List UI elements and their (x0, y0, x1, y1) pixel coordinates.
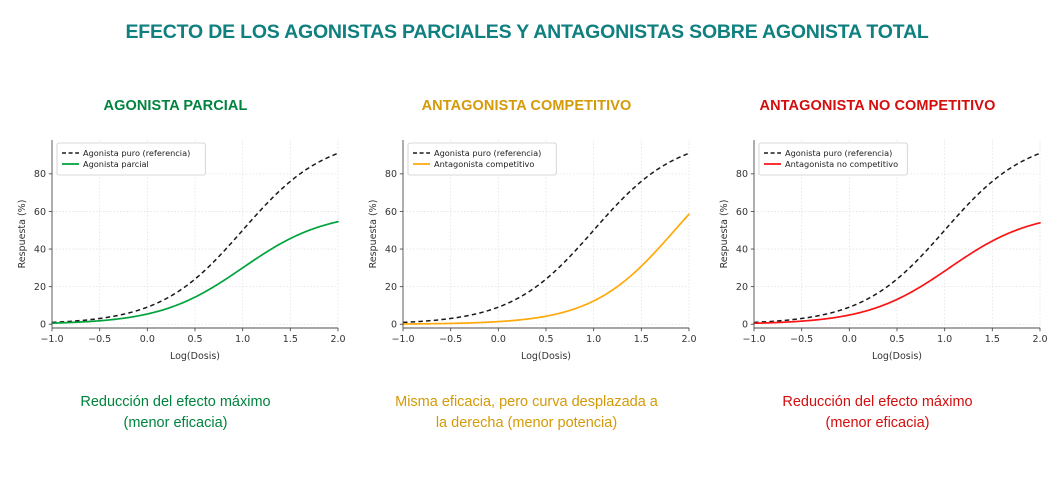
chart-agonista-parcial: −1.0−0.50.00.51.01.52.0020406080Log(Dosi… (6, 130, 346, 370)
y-tick-label: 60 (384, 207, 396, 218)
panel-caption-1: Misma eficacia, pero curva desplazada a … (367, 392, 687, 434)
y-axis-label: Respuesta (%) (368, 200, 379, 269)
legend: Agonista puro (referencia)Antagonista co… (408, 143, 556, 175)
x-axis-label: Log(Dosis) (169, 351, 219, 362)
y-tick-label: 80 (384, 169, 396, 180)
y-axis-label: Respuesta (%) (17, 200, 28, 269)
y-tick-label: 60 (735, 207, 747, 218)
y-tick-label: 20 (33, 282, 45, 293)
legend-label-1: Agonista parcial (83, 159, 149, 169)
y-tick-label: 60 (33, 207, 45, 218)
x-tick-label: −1.0 (742, 334, 765, 345)
y-tick-label: 40 (384, 244, 396, 255)
y-axis-label: Respuesta (%) (719, 200, 730, 269)
x-axis-ticks: −1.0−0.50.00.51.01.52.0 (391, 328, 696, 345)
x-axis-ticks: −1.0−0.50.00.51.01.52.0 (40, 328, 345, 345)
x-tick-label: 2.0 (681, 334, 696, 345)
caption-line-2: (menor eficacia) (16, 413, 336, 434)
legend: Agonista puro (referencia)Agonista parci… (57, 143, 205, 175)
x-tick-label: 2.0 (330, 334, 345, 345)
legend-label-0: Agonista puro (referencia) (83, 148, 190, 158)
panel-heading-2: ANTAGONISTA NO COMPETITIVO (760, 95, 996, 117)
plot-svg: −1.0−0.50.00.51.01.52.0020406080Log(Dosi… (708, 130, 1048, 370)
y-tick-label: 0 (390, 320, 396, 331)
x-tick-label: 0.5 (538, 334, 553, 345)
y-tick-label: 0 (39, 320, 45, 331)
chart-antagonista-competitivo: −1.0−0.50.00.51.01.52.0020406080Log(Dosi… (357, 130, 697, 370)
x-tick-label: −0.5 (88, 334, 111, 345)
panels-container: AGONISTA PARCIAL −1.0−0.50.00.51.01.52.0… (0, 95, 1054, 434)
x-tick-label: 0.0 (490, 334, 505, 345)
panel-agonista-parcial: AGONISTA PARCIAL −1.0−0.50.00.51.01.52.0… (0, 95, 351, 434)
legend-label-1: Antagonista competitivo (434, 159, 534, 169)
legend: Agonista puro (referencia)Antagonista no… (759, 143, 907, 175)
panel-heading-0: AGONISTA PARCIAL (104, 95, 248, 117)
y-tick-label: 80 (33, 169, 45, 180)
legend-label-1: Antagonista no competitivo (785, 159, 898, 169)
y-tick-label: 80 (735, 169, 747, 180)
x-axis-ticks: −1.0−0.50.00.51.01.52.0 (742, 328, 1047, 345)
panel-heading-1: ANTAGONISTA COMPETITIVO (422, 95, 632, 117)
legend-label-0: Agonista puro (referencia) (434, 148, 541, 158)
x-tick-label: −0.5 (439, 334, 462, 345)
y-axis-ticks: 020406080 (735, 169, 753, 330)
panel-antagonista-competitivo: ANTAGONISTA COMPETITIVO −1.0−0.50.00.51.… (351, 95, 702, 434)
x-axis-label: Log(Dosis) (520, 351, 570, 362)
plot-svg: −1.0−0.50.00.51.01.52.0020406080Log(Dosi… (357, 130, 697, 370)
caption-line-1: Misma eficacia, pero curva desplazada a (367, 392, 687, 413)
y-tick-label: 0 (741, 320, 747, 331)
page-title: EFECTO DE LOS AGONISTAS PARCIALES Y ANTA… (0, 21, 1054, 44)
caption-line-2: (menor eficacia) (718, 413, 1038, 434)
figure-root: EFECTO DE LOS AGONISTAS PARCIALES Y ANTA… (0, 0, 1054, 479)
panel-caption-0: Reducción del efecto máximo (menor efica… (16, 392, 336, 434)
caption-line-2: la derecha (menor potencia) (367, 413, 687, 434)
x-tick-label: −0.5 (790, 334, 813, 345)
y-axis-ticks: 020406080 (33, 169, 51, 330)
plot-svg: −1.0−0.50.00.51.01.52.0020406080Log(Dosi… (6, 130, 346, 370)
y-axis-ticks: 020406080 (384, 169, 402, 330)
panel-caption-2: Reducción del efecto máximo (menor efica… (718, 392, 1038, 434)
x-tick-label: 0.0 (841, 334, 856, 345)
x-tick-label: 0.5 (889, 334, 904, 345)
x-tick-label: 1.5 (984, 334, 999, 345)
panel-antagonista-no-competitivo: ANTAGONISTA NO COMPETITIVO −1.0−0.50.00.… (702, 95, 1053, 434)
legend-label-0: Agonista puro (referencia) (785, 148, 892, 158)
x-tick-label: 2.0 (1032, 334, 1047, 345)
x-tick-label: 1.5 (282, 334, 297, 345)
x-tick-label: −1.0 (40, 334, 63, 345)
x-tick-label: 1.5 (633, 334, 648, 345)
chart-antagonista-no-competitivo: −1.0−0.50.00.51.01.52.0020406080Log(Dosi… (708, 130, 1048, 370)
x-tick-label: 0.0 (139, 334, 154, 345)
caption-line-1: Reducción del efecto máximo (718, 392, 1038, 413)
x-tick-label: 1.0 (937, 334, 952, 345)
y-tick-label: 20 (735, 282, 747, 293)
x-axis-label: Log(Dosis) (871, 351, 921, 362)
y-tick-label: 40 (735, 244, 747, 255)
x-tick-label: 1.0 (586, 334, 601, 345)
x-tick-label: −1.0 (391, 334, 414, 345)
y-tick-label: 20 (384, 282, 396, 293)
x-tick-label: 0.5 (187, 334, 202, 345)
caption-line-1: Reducción del efecto máximo (16, 392, 336, 413)
x-tick-label: 1.0 (235, 334, 250, 345)
y-tick-label: 40 (33, 244, 45, 255)
